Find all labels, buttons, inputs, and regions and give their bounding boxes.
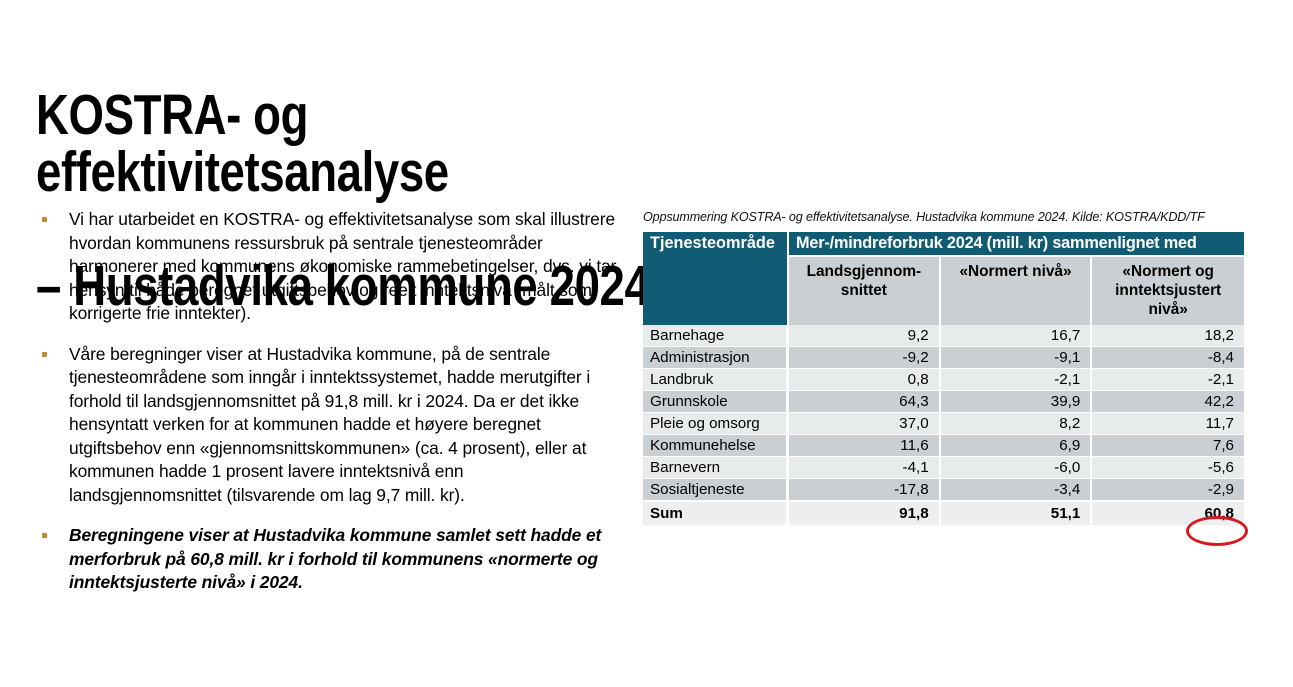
- cell-normert-niva: -3,4: [941, 479, 1093, 501]
- table-row: Barnehage 9,2 16,7 18,2: [643, 325, 1244, 347]
- cell-normert-niva: -2,1: [941, 369, 1093, 391]
- kostra-summary-table: Tjenesteområde Mer-/mindreforbruk 2024 (…: [643, 232, 1244, 525]
- cell-sum-normert-inntektsjustert: 60,8: [1092, 501, 1244, 525]
- table-header-row-top: Tjenesteområde Mer-/mindreforbruk 2024 (…: [643, 232, 1244, 255]
- cell-normert-niva: 16,7: [941, 325, 1093, 347]
- cell-name: Grunnskole: [643, 391, 789, 413]
- bullet-marker-icon: [38, 343, 69, 357]
- cell-normert-inntektsjustert: 7,6: [1092, 435, 1244, 457]
- table-row: Administrasjon -9,2 -9,1 -8,4: [643, 347, 1244, 369]
- cell-name: Kommunehelse: [643, 435, 789, 457]
- cell-normert-niva: -9,1: [941, 347, 1093, 369]
- cell-landsgjennomsnittet: 37,0: [789, 413, 941, 435]
- table-row: Sosialtjeneste -17,8 -3,4 -2,9: [643, 479, 1244, 501]
- cell-landsgjennomsnittet: 9,2: [789, 325, 941, 347]
- cell-name: Administrasjon: [643, 347, 789, 369]
- cell-normert-niva: 8,2: [941, 413, 1093, 435]
- summary-table-block: Oppsummering KOSTRA- og effektivitetsana…: [643, 210, 1244, 525]
- table-row: Landbruk 0,8 -2,1 -2,1: [643, 369, 1244, 391]
- page-title-line-1: KOSTRA- og effektivitetsanalyse: [36, 87, 692, 201]
- table-row: Pleie og omsorg 37,0 8,2 11,7: [643, 413, 1244, 435]
- list-item: Vi har utarbeidet en KOSTRA- og effektiv…: [38, 208, 618, 326]
- cell-normert-inntektsjustert: 42,2: [1092, 391, 1244, 413]
- cell-landsgjennomsnittet: 64,3: [789, 391, 941, 413]
- list-item: Beregningene viser at Hustadvika kommune…: [38, 524, 618, 595]
- cell-normert-inntektsjustert: 18,2: [1092, 325, 1244, 347]
- cell-name: Landbruk: [643, 369, 789, 391]
- cell-normert-inntektsjustert: -8,4: [1092, 347, 1244, 369]
- table-body: Barnehage 9,2 16,7 18,2 Administrasjon -…: [643, 325, 1244, 525]
- column-header-tjenesteomrade: Tjenesteområde: [643, 232, 789, 325]
- cell-normert-inntektsjustert: -2,1: [1092, 369, 1244, 391]
- column-header-normert-og-inntektsjustert-niva: «Normert og inntektsjustert nivå»: [1092, 255, 1244, 325]
- table-row-sum: Sum 91,8 51,1 60,8: [643, 501, 1244, 525]
- list-item: Våre beregninger viser at Hustadvika kom…: [38, 343, 618, 508]
- column-header-group-span: Mer-/mindreforbruk 2024 (mill. kr) samme…: [789, 232, 1244, 255]
- column-header-landsgjennomsnittet: Landsgjennom-snittet: [789, 255, 941, 325]
- column-header-normert-niva: «Normert nivå»: [941, 255, 1093, 325]
- bullet-list: Vi har utarbeidet en KOSTRA- og effektiv…: [38, 208, 618, 612]
- cell-landsgjennomsnittet: -9,2: [789, 347, 941, 369]
- cell-landsgjennomsnittet: -4,1: [789, 457, 941, 479]
- cell-normert-niva: 39,9: [941, 391, 1093, 413]
- bullet-marker-icon: [38, 524, 69, 538]
- table-row: Kommunehelse 11,6 6,9 7,6: [643, 435, 1244, 457]
- cell-name: Barnevern: [643, 457, 789, 479]
- cell-sum-label: Sum: [643, 501, 789, 525]
- cell-normert-niva: -6,0: [941, 457, 1093, 479]
- cell-landsgjennomsnittet: 0,8: [789, 369, 941, 391]
- cell-name: Barnehage: [643, 325, 789, 347]
- cell-normert-inntektsjustert: 11,7: [1092, 413, 1244, 435]
- cell-landsgjennomsnittet: -17,8: [789, 479, 941, 501]
- cell-normert-inntektsjustert: -2,9: [1092, 479, 1244, 501]
- cell-name: Sosialtjeneste: [643, 479, 789, 501]
- cell-name: Pleie og omsorg: [643, 413, 789, 435]
- bullet-marker-icon: [38, 208, 69, 222]
- bullet-text-2: Våre beregninger viser at Hustadvika kom…: [69, 343, 618, 508]
- cell-sum-landsgjennomsnittet: 91,8: [789, 501, 941, 525]
- cell-normert-inntektsjustert: -5,6: [1092, 457, 1244, 479]
- table-caption: Oppsummering KOSTRA- og effektivitetsana…: [643, 210, 1244, 225]
- bullet-text-1: Vi har utarbeidet en KOSTRA- og effektiv…: [69, 208, 618, 326]
- bullet-text-3: Beregningene viser at Hustadvika kommune…: [69, 524, 618, 595]
- cell-sum-normert-niva: 51,1: [941, 501, 1093, 525]
- table-row: Barnevern -4,1 -6,0 -5,6: [643, 457, 1244, 479]
- cell-normert-niva: 6,9: [941, 435, 1093, 457]
- table-row: Grunnskole 64,3 39,9 42,2: [643, 391, 1244, 413]
- cell-landsgjennomsnittet: 11,6: [789, 435, 941, 457]
